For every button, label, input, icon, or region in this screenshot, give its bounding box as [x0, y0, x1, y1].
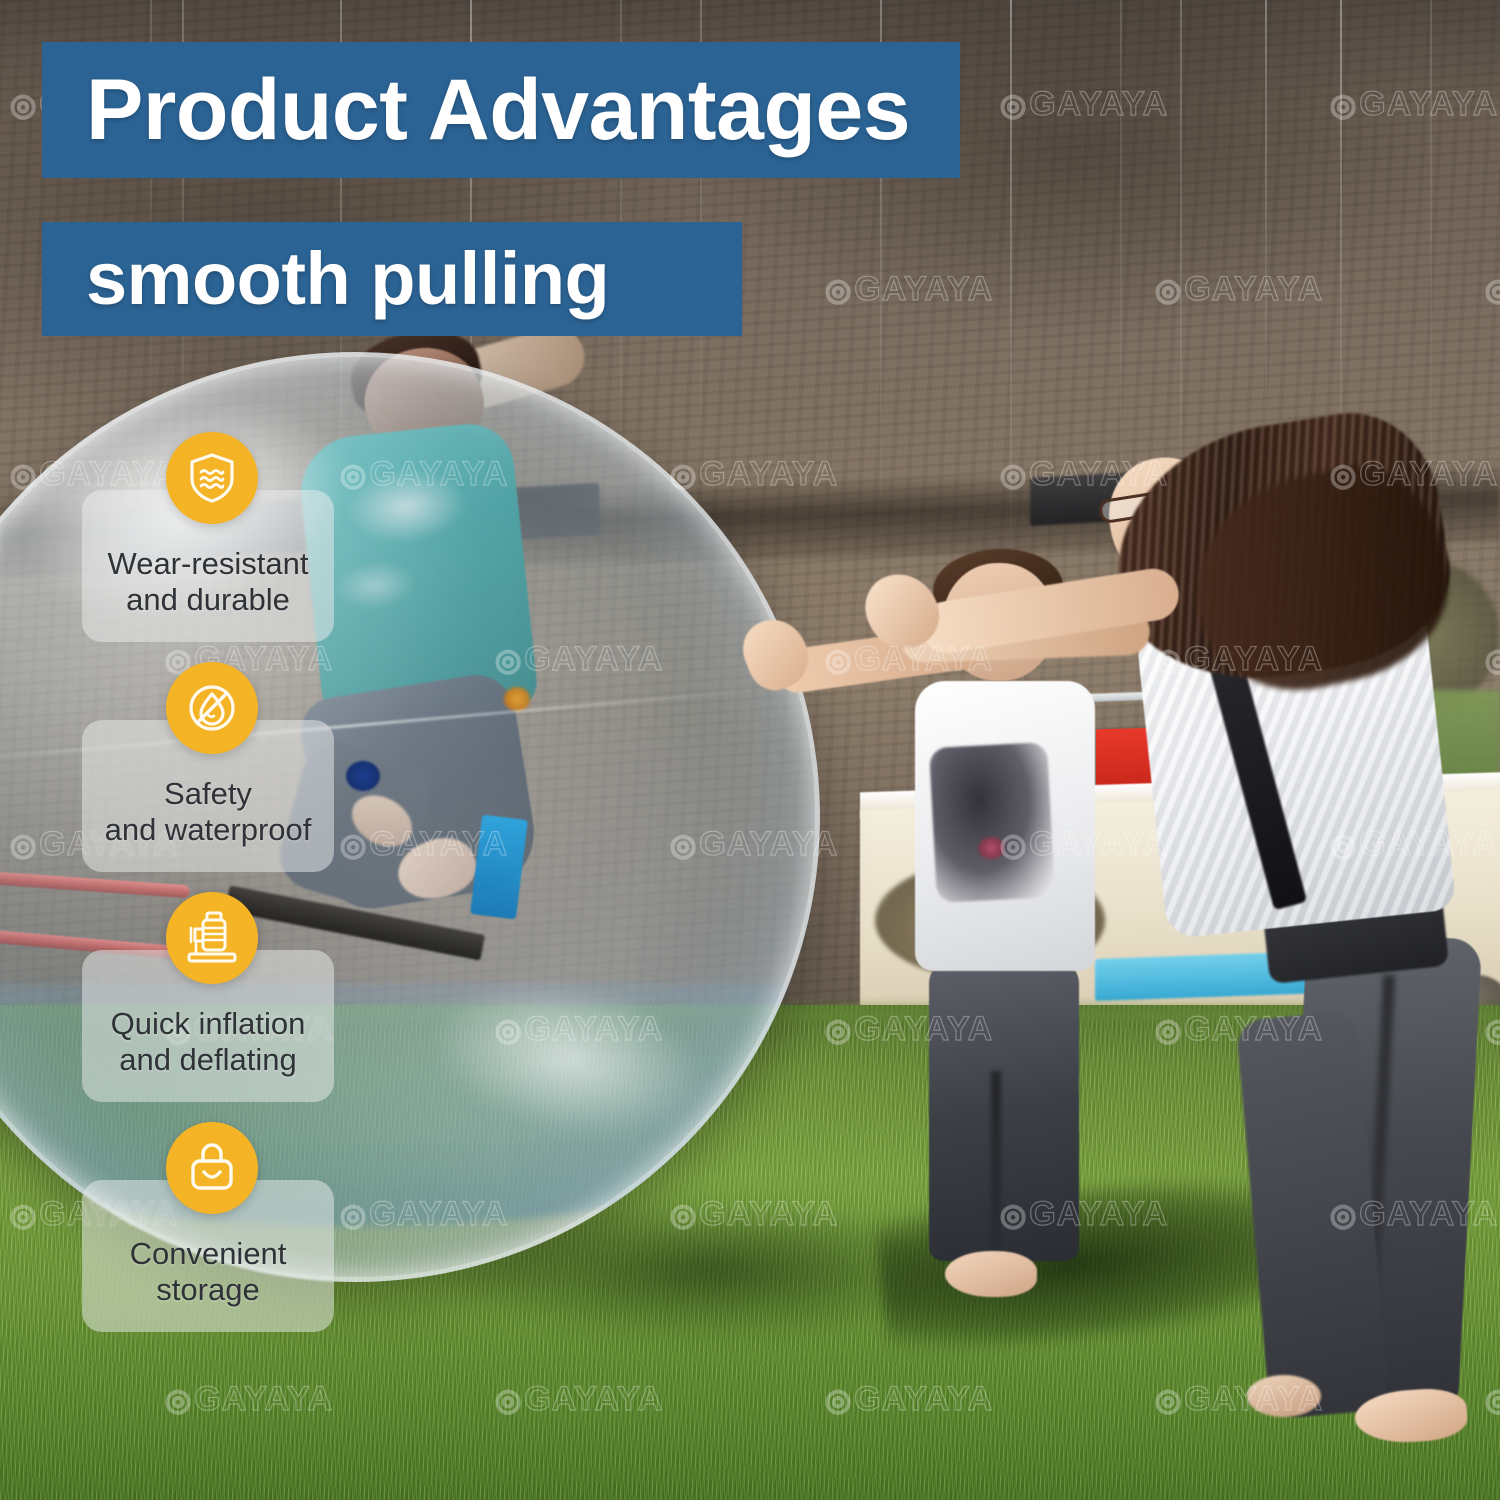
title-banner: Product Advantages [42, 42, 960, 178]
boy-foot [945, 1251, 1037, 1297]
feature-label: Safety and waterproof [105, 776, 312, 848]
product-advantages-banner: GAYAYAGAYAYAGAYAYAGAYAYAGAYAYAGAYAYAGAYA… [0, 0, 1500, 1500]
feature-list: Wear-resistant and durable Safety and wa… [82, 432, 412, 1352]
shield-waves-icon [166, 432, 258, 524]
feature-item-inflation: Quick inflation and deflating [82, 892, 412, 1122]
feature-item-wear-resistant: Wear-resistant and durable [82, 432, 412, 662]
girl-foot-back [1247, 1375, 1321, 1417]
boy-tshirt-print [929, 742, 1055, 903]
page-title: Product Advantages [86, 67, 910, 153]
storage-bag-icon [166, 1122, 258, 1214]
subtitle-banner: smooth pulling [42, 222, 742, 336]
girl-with-glasses [1135, 415, 1500, 1485]
boy-pants [929, 961, 1079, 1261]
water-drop-slash-icon [166, 662, 258, 754]
feature-label: Wear-resistant and durable [108, 546, 309, 618]
feature-item-storage: Convenient storage [82, 1122, 412, 1352]
page-subtitle: smooth pulling [86, 242, 609, 316]
air-pump-icon [166, 892, 258, 984]
feature-label: Quick inflation and deflating [111, 1006, 306, 1078]
feature-item-waterproof: Safety and waterproof [82, 662, 412, 892]
feature-label: Convenient storage [130, 1236, 287, 1308]
